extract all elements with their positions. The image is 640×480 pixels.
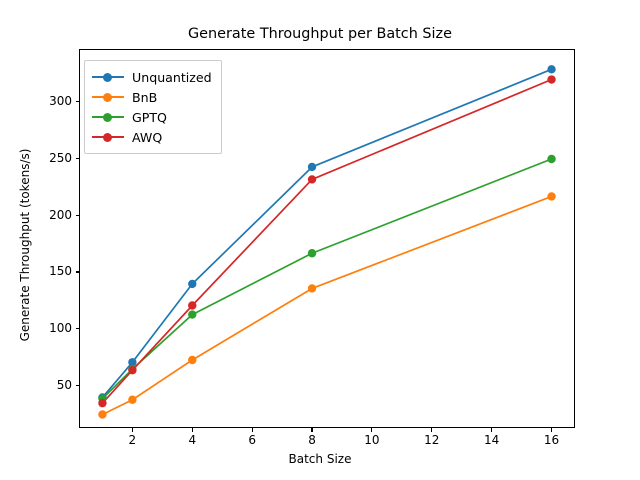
x-tick-label: 6 [248,433,256,447]
legend-marker-icon [103,113,112,122]
y-tick-mark [76,158,80,159]
legend-marker-icon [103,73,112,82]
data-point-marker [547,192,555,200]
legend-item-label: BnB [132,90,157,105]
legend-item[interactable]: BnB [92,87,212,107]
x-tick-mark [311,428,312,432]
y-tick-label: 150 [0,264,72,278]
y-tick-mark [76,385,80,386]
data-point-marker [188,356,196,364]
y-tick-label: 100 [0,321,72,335]
data-point-marker [547,75,555,83]
chart-title: Generate Throughput per Batch Size [0,26,640,42]
y-tick-mark [76,101,80,102]
y-tick-mark [76,215,80,216]
legend-item[interactable]: AWQ [92,127,212,147]
legend-item[interactable]: Unquantized [92,67,212,87]
data-point-marker [128,366,136,374]
x-tick-label: 14 [484,433,499,447]
data-point-marker [188,310,196,318]
data-point-marker [308,175,316,183]
data-point-marker [98,410,106,418]
series-line [102,159,551,399]
y-tick-label: 250 [0,151,72,165]
x-tick-mark [192,428,193,432]
x-tick-label: 8 [308,433,316,447]
x-tick-label: 12 [424,433,439,447]
data-point-marker [308,163,316,171]
x-axis-label: Batch Size [0,452,640,466]
legend-swatch-icon [92,110,124,124]
x-tick-mark [252,428,253,432]
legend-item-label: GPTQ [132,110,167,125]
legend-marker-icon [103,93,112,102]
x-tick-mark [371,428,372,432]
data-point-marker [188,280,196,288]
legend-swatch-icon [92,130,124,144]
legend-swatch-icon [92,90,124,104]
x-tick-label: 4 [188,433,196,447]
y-tick-mark [76,328,80,329]
data-point-marker [547,65,555,73]
x-tick-label: 2 [129,433,137,447]
data-point-marker [308,284,316,292]
legend-swatch-icon [92,70,124,84]
legend-item-label: Unquantized [132,70,212,85]
x-tick-mark [132,428,133,432]
data-point-marker [128,396,136,404]
x-tick-mark [491,428,492,432]
data-point-marker [188,301,196,309]
x-tick-mark [551,428,552,432]
y-tick-label: 200 [0,208,72,222]
data-point-marker [308,249,316,257]
chart-figure: Generate Throughput per Batch Size 50100… [0,0,640,480]
data-point-marker [98,399,106,407]
x-tick-label: 16 [544,433,559,447]
legend-item[interactable]: GPTQ [92,107,212,127]
y-tick-mark [76,271,80,272]
legend-item-label: AWQ [132,130,162,145]
legend-marker-icon [103,133,112,142]
chart-legend: UnquantizedBnBGPTQAWQ [84,60,222,154]
y-tick-label: 300 [0,94,72,108]
x-tick-label: 10 [364,433,379,447]
x-tick-mark [431,428,432,432]
y-tick-label: 50 [0,378,72,392]
y-axis-label: Generate Throughput (tokens/s) [18,135,32,355]
series-line [102,196,551,414]
data-point-marker [547,155,555,163]
